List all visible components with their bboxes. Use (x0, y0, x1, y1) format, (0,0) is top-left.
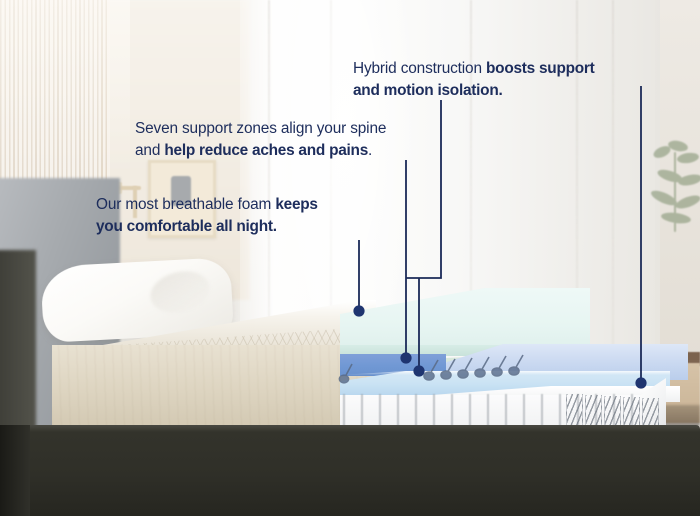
callout-text-hybrid: Hybrid construction boosts support and m… (353, 58, 653, 102)
mattress-side-texture (52, 345, 374, 429)
plant-icon (648, 132, 700, 257)
mattress-infographic-stage: Hybrid construction boosts support and m… (0, 0, 700, 516)
callout-foam-line-2: you comfortable all night. (96, 216, 366, 238)
mattress-cutaway-diagram (340, 270, 680, 435)
bed-frame (18, 425, 700, 516)
callout-foam-line-1: Our most breathable foam keeps (96, 194, 366, 216)
layer-breathable-cover-foam (340, 288, 590, 350)
callout-hybrid-line-2: and motion isolation. (353, 80, 653, 102)
coil-spring (585, 395, 602, 429)
callout-hybrid-line-1: Hybrid construction boosts support (353, 58, 653, 80)
callout-zones-line-1: Seven support zones align your spine (135, 118, 435, 140)
callout-zones-line-2: and help reduce aches and pains. (135, 140, 435, 162)
callout-text-zones: Seven support zones align your spine and… (135, 118, 435, 162)
bed-frame-highlight (18, 425, 700, 432)
callout-text-foam: Our most breathable foam keeps you comfo… (96, 194, 366, 238)
bed-frame-left-corner (0, 425, 30, 516)
headboard-shadow (0, 250, 36, 440)
coil-spring (566, 394, 583, 428)
